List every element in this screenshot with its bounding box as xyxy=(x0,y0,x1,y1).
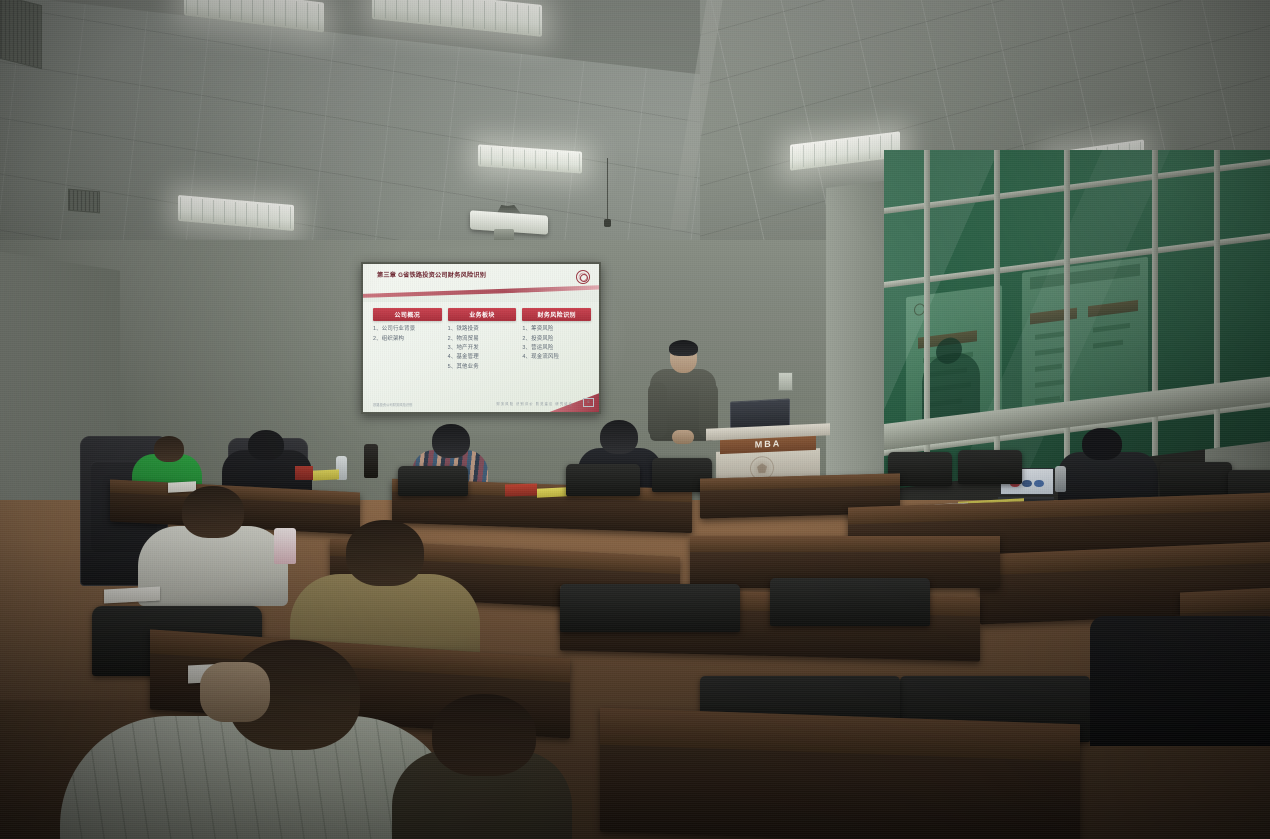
slide-column-business: 业务板块 1、铁路投资 2、物流贸易 3、地产开发 4、基金管理 5、其他业务 xyxy=(448,308,517,372)
attendee-head xyxy=(432,424,470,458)
slide-list-item: 1、公司行业背景 xyxy=(373,325,442,334)
slide-columns: 公司概况 1、公司行业背景 2、组织架构 业务板块 1、铁路投资 2、物流贸易 … xyxy=(373,308,591,372)
attendee-head xyxy=(432,694,536,776)
attendee-head xyxy=(1082,428,1122,460)
slide-column-risk: 财务风险识别 1、筹资风险 2、投资风险 3、营运风险 4、现金流风险 xyxy=(522,308,591,372)
presenter-hands xyxy=(672,430,694,444)
slide-page-number: 6 xyxy=(583,398,594,407)
slide-list-item: 3、营运风险 xyxy=(522,344,591,353)
red-box xyxy=(505,483,537,496)
ceiling-vent xyxy=(0,0,42,69)
slide-list-item: 2、组织架构 xyxy=(373,335,442,344)
red-box xyxy=(295,466,313,480)
laptop-chart-dot xyxy=(1034,480,1043,488)
list-item xyxy=(138,486,288,602)
desk-surface xyxy=(690,536,1000,552)
presentation-slide: 第三章 G省铁路投资公司财务风险识别 公司概况 1、公司行业背景 2、组织架构 … xyxy=(363,264,599,412)
classroom-photo: 第三章 G省铁路投资公司财务风险识别 公司概况 1、公司行业背景 2、组织架构 … xyxy=(0,0,1270,839)
attendee-hand xyxy=(200,662,270,722)
slide-column-list: 1、筹资风险 2、投资风险 3、营运风险 4、现金流风险 xyxy=(522,325,591,362)
yellow-folder xyxy=(537,487,567,498)
slide-list-item: 4、现金流风险 xyxy=(522,353,591,362)
desk-surface xyxy=(1180,587,1270,613)
wall-pier xyxy=(826,180,890,518)
attendee-head xyxy=(182,486,244,538)
wall-switch-plate[interactable] xyxy=(778,372,793,391)
list-item xyxy=(392,694,572,839)
slide-list-item: 2、物流贸易 xyxy=(448,335,517,344)
water-bottle xyxy=(1055,466,1066,492)
attendee-body xyxy=(138,526,288,606)
yellow-folder xyxy=(313,469,339,480)
chair[interactable] xyxy=(566,464,640,496)
chair[interactable] xyxy=(958,450,1022,484)
chair[interactable] xyxy=(560,584,740,632)
ceiling-hanging-sensor xyxy=(607,158,608,222)
ceiling-light-panel xyxy=(372,0,542,37)
ceiling-vent xyxy=(68,189,100,214)
paper-sheet xyxy=(104,587,160,604)
desk xyxy=(600,708,1080,839)
thermos-flask xyxy=(364,444,378,478)
attendee-head xyxy=(600,420,638,454)
chair[interactable] xyxy=(398,466,468,496)
slide-column-heading: 公司概况 xyxy=(373,308,442,321)
presenter-hair xyxy=(669,340,698,356)
chair[interactable] xyxy=(770,578,930,626)
slide-footer-left: 铁路投资公司财务风险识别 xyxy=(373,402,412,407)
slide-title: 第三章 G省铁路投资公司财务风险识别 xyxy=(377,270,573,279)
slide-column-list: 1、公司行业背景 2、组织架构 xyxy=(373,325,442,344)
slide-list-item: 4、基金管理 xyxy=(448,353,517,362)
list-item xyxy=(1058,428,1158,504)
slide-list-item: 5、其他业务 xyxy=(448,363,517,372)
attendee-head xyxy=(248,430,284,460)
attendee-head xyxy=(346,520,424,586)
laptop-chart-dot xyxy=(1022,480,1031,488)
ceiling-projector xyxy=(470,205,548,235)
slide-list-item: 1、铁路投资 xyxy=(448,325,517,334)
attendee-head xyxy=(154,436,184,462)
slide-column-list: 1、铁路投资 2、物流贸易 3、地产开发 4、基金管理 5、其他业务 xyxy=(448,325,517,371)
slide-column-heading: 业务板块 xyxy=(448,308,517,321)
slide-footer-right: 财务风险 识别评价 防范建议 研究结论 xyxy=(497,401,573,406)
slide-list-item: 1、筹资风险 xyxy=(522,325,591,334)
projection-screen: 第三章 G省铁路投资公司财务风险识别 公司概况 1、公司行业背景 2、组织架构 … xyxy=(361,262,601,414)
slide-list-item: 3、地产开发 xyxy=(448,344,517,353)
slide-column-heading: 财务风险识别 xyxy=(522,308,591,321)
foreground-chair-back xyxy=(1090,616,1270,746)
university-seal-icon xyxy=(576,270,590,284)
slide-list-item: 2、投资风险 xyxy=(522,335,591,344)
slide-column-company: 公司概况 1、公司行业背景 2、组织架构 xyxy=(373,308,442,372)
